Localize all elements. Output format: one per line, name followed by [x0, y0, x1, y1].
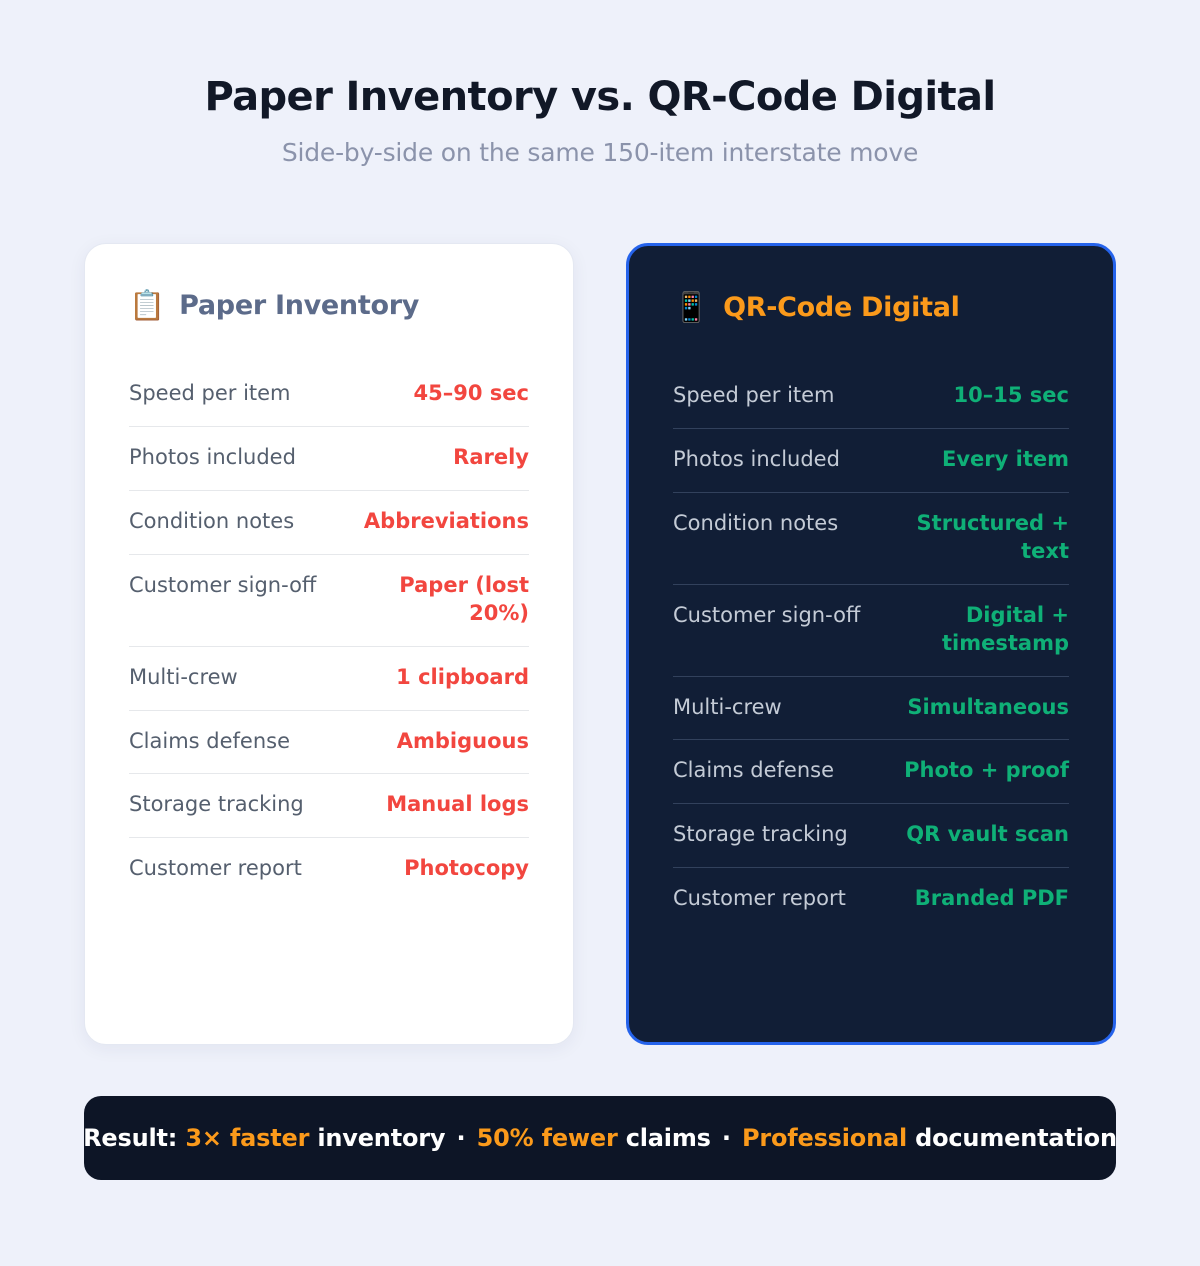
row-value: Manual logs — [386, 791, 529, 819]
table-row: Condition notes Abbreviations — [129, 490, 529, 554]
banner-plain-3: documentation — [915, 1124, 1117, 1152]
row-label: Storage tracking — [673, 821, 848, 849]
digital-card-title: QR-Code Digital — [723, 292, 959, 323]
result-banner-text: Result: 3× faster inventory · 50% fewer … — [83, 1124, 1117, 1152]
banner-plain-2: claims — [626, 1124, 711, 1152]
row-label: Condition notes — [673, 510, 838, 538]
table-row: Storage tracking QR vault scan — [673, 803, 1069, 867]
table-row: Storage tracking Manual logs — [129, 773, 529, 837]
row-value: Digital + timestamp — [884, 602, 1069, 658]
table-row: Photos included Every item — [673, 428, 1069, 492]
banner-separator-1: · — [454, 1124, 469, 1152]
row-label: Multi-crew — [673, 694, 782, 722]
row-value: QR vault scan — [906, 821, 1069, 849]
qr-code-digital-card: 📱 QR-Code Digital Speed per item 10–15 s… — [626, 243, 1116, 1045]
row-label: Speed per item — [129, 380, 291, 408]
row-label: Customer sign-off — [673, 602, 860, 630]
banner-highlight-3: Professional — [742, 1124, 907, 1152]
row-value: 45–90 sec — [414, 380, 529, 408]
table-row: Customer sign-off Digital + timestamp — [673, 584, 1069, 676]
banner-separator-2: · — [719, 1124, 734, 1152]
banner-plain-1: inventory — [317, 1124, 445, 1152]
table-row: Photos included Rarely — [129, 426, 529, 490]
row-label: Customer report — [129, 855, 302, 883]
banner-prefix: Result: — [83, 1124, 177, 1152]
row-value: 10–15 sec — [954, 382, 1069, 410]
header: Paper Inventory vs. QR-Code Digital Side… — [0, 0, 1200, 167]
row-value: Photocopy — [404, 855, 529, 883]
table-row: Speed per item 10–15 sec — [673, 365, 1069, 428]
table-row: Customer report Branded PDF — [673, 867, 1069, 931]
table-row: Multi-crew Simultaneous — [673, 676, 1069, 740]
banner-highlight-1: 3× faster — [185, 1124, 309, 1152]
mobile-phone-icon: 📱 — [673, 293, 709, 322]
row-value: Abbreviations — [364, 508, 529, 536]
clipboard-icon: 📋 — [129, 291, 165, 320]
table-row: Speed per item 45–90 sec — [129, 363, 529, 426]
table-row: Claims defense Ambiguous — [129, 710, 529, 774]
table-row: Customer report Photocopy — [129, 837, 529, 901]
table-row: Condition notes Structured + text — [673, 492, 1069, 584]
row-value: Photo + proof — [904, 757, 1069, 785]
banner-highlight-2: 50% fewer — [477, 1124, 618, 1152]
comparison-infographic: Paper Inventory vs. QR-Code Digital Side… — [0, 0, 1200, 1266]
table-row: Multi-crew 1 clipboard — [129, 646, 529, 710]
paper-card-rows: Speed per item 45–90 sec Photos included… — [129, 363, 529, 901]
digital-card-rows: Speed per item 10–15 sec Photos included… — [673, 365, 1069, 931]
paper-card-header: 📋 Paper Inventory — [129, 290, 529, 321]
table-row: Claims defense Photo + proof — [673, 739, 1069, 803]
digital-card-header: 📱 QR-Code Digital — [673, 292, 1069, 323]
row-label: Speed per item — [673, 382, 835, 410]
row-label: Claims defense — [673, 757, 834, 785]
row-label: Customer sign-off — [129, 572, 316, 600]
row-label: Storage tracking — [129, 791, 304, 819]
row-value: Every item — [942, 446, 1069, 474]
result-banner: Result: 3× faster inventory · 50% fewer … — [84, 1096, 1116, 1180]
row-label: Multi-crew — [129, 664, 238, 692]
row-label: Photos included — [673, 446, 840, 474]
paper-inventory-card: 📋 Paper Inventory Speed per item 45–90 s… — [84, 243, 574, 1045]
row-value: 1 clipboard — [396, 664, 529, 692]
row-value: Structured + text — [884, 510, 1069, 566]
row-value: Simultaneous — [907, 694, 1069, 722]
row-label: Photos included — [129, 444, 296, 472]
table-row: Customer sign-off Paper (lost 20%) — [129, 554, 529, 646]
paper-card-title: Paper Inventory — [179, 290, 419, 321]
row-value: Branded PDF — [915, 885, 1069, 913]
row-value: Paper (lost 20%) — [344, 572, 529, 628]
row-value: Rarely — [453, 444, 529, 472]
row-label: Claims defense — [129, 728, 290, 756]
page-title: Paper Inventory vs. QR-Code Digital — [0, 74, 1200, 121]
page-subtitle: Side-by-side on the same 150-item inters… — [0, 138, 1200, 167]
row-label: Customer report — [673, 885, 846, 913]
row-value: Ambiguous — [397, 728, 529, 756]
comparison-cards: 📋 Paper Inventory Speed per item 45–90 s… — [84, 243, 1116, 1045]
row-label: Condition notes — [129, 508, 294, 536]
